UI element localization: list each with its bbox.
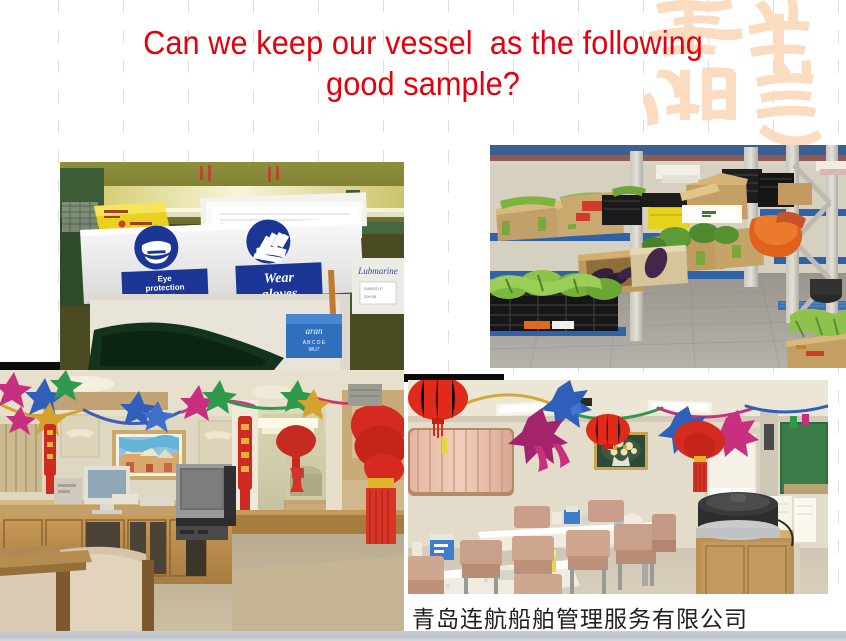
svg-text:Lubmarine: Lubmarine — [357, 266, 398, 276]
svg-text:aran: aran — [305, 326, 323, 336]
title-line-2: good sample? — [30, 63, 817, 104]
svg-text:A B C D E: A B C D E — [303, 340, 326, 346]
presentation-slide: Can we keep our vessel as the following … — [0, 0, 846, 641]
company-name-caption: 青岛连航船舶管理服务有限公司 — [412, 600, 832, 634]
photo-provision-store — [490, 145, 846, 368]
photo-crew-lounge — [0, 370, 404, 632]
page-title: Can we keep our vessel as the following … — [0, 22, 846, 104]
photo-safety-signage: Eye protection must be worn — [60, 162, 404, 370]
svg-text:209 55: 209 55 — [364, 294, 377, 299]
photo-mess-room — [408, 380, 828, 628]
svg-text:GARGO F: GARGO F — [364, 286, 383, 291]
svg-text:WU7: WU7 — [308, 347, 319, 353]
bottom-status-bar — [0, 631, 846, 641]
svg-text:Wear: Wear — [264, 270, 295, 286]
title-line-1: Can we keep our vessel as the following — [30, 22, 817, 63]
